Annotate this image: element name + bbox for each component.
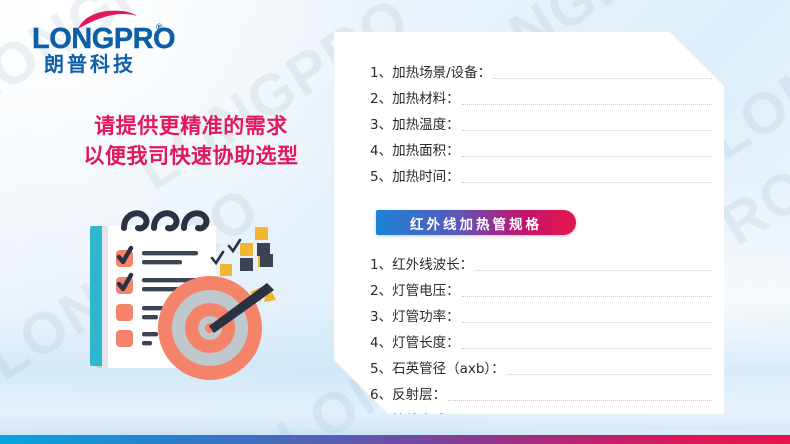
form-label: 3、灯管功率： — [370, 311, 460, 327]
form-row[interactable]: 4、加热面积： — [370, 136, 712, 160]
brand-logo: LONGPRO ® 朗普科技 — [18, 8, 178, 66]
slide-canvas: LONGPRO LONGPRO LONGPRO LONGPRO LONGPRO … — [0, 0, 790, 444]
headline-line-2: 以便我司快速协助选型 — [56, 142, 326, 172]
form-label: 1、加热场景/设备： — [370, 67, 491, 83]
checkbox-empty — [116, 304, 133, 321]
form-blank-line[interactable] — [475, 267, 712, 271]
form-row[interactable]: 2、加热材料： — [370, 84, 712, 108]
footer-shade — [0, 411, 790, 435]
form-label: 2、加热材料： — [370, 93, 460, 109]
form-label: 5、加热时间： — [370, 171, 460, 187]
footer-gradient-bar — [0, 435, 790, 444]
form-blank-line[interactable] — [507, 371, 712, 375]
form-blank-line[interactable] — [462, 345, 712, 349]
form-row[interactable]: 4、灯管长度： — [370, 328, 712, 352]
floating-squares-decoration — [212, 227, 273, 276]
headline-line-1: 请提供更精准的需求 — [56, 112, 326, 142]
checkbox-empty — [116, 330, 133, 347]
form-row[interactable]: 5、加热时间： — [370, 162, 712, 186]
form-label: 4、灯管长度： — [370, 337, 460, 353]
form-label: 3、加热温度： — [370, 119, 460, 135]
form-label: 5、石英管径（axb）： — [370, 363, 505, 379]
form-blank-line[interactable] — [462, 319, 712, 323]
logo-chinese-name: 朗普科技 — [44, 48, 136, 77]
form-blank-line[interactable] — [462, 127, 712, 131]
form-label: 2、灯管电压： — [370, 285, 460, 301]
requirement-form-card: 1、加热场景/设备： 2、加热材料： 3、加热温度： 4、加热面积： 5、加热时… — [334, 32, 724, 414]
section-banner-label: 红外线加热管规格 — [410, 213, 542, 233]
check-mark-icon — [229, 240, 240, 251]
form-blank-line[interactable] — [493, 75, 712, 79]
form-label: 4、加热面积： — [370, 145, 460, 161]
headline: 请提供更精准的需求 以便我司快速协助选型 — [56, 112, 326, 172]
form-blank-line[interactable] — [462, 153, 712, 157]
registered-mark-icon: ® — [156, 22, 163, 32]
form-row[interactable]: 1、加热场景/设备： — [370, 58, 712, 82]
section-banner: 红外线加热管规格 — [376, 210, 576, 235]
form-blank-line[interactable] — [462, 101, 712, 105]
form-label: 6、反射层： — [370, 389, 446, 405]
form-row[interactable]: 2、灯管电压： — [370, 276, 712, 300]
checklist-target-illustration — [62, 196, 338, 400]
form-row[interactable]: 5、石英管径（axb）： — [370, 354, 712, 378]
form-row[interactable]: 3、灯管功率： — [370, 302, 712, 326]
form-blank-line[interactable] — [462, 293, 712, 297]
form-row[interactable]: 1、红外线波长： — [370, 250, 712, 274]
form-row[interactable]: 6、反射层： — [370, 380, 712, 404]
form-blank-line[interactable] — [462, 179, 712, 183]
form-row[interactable]: 3、加热温度： — [370, 110, 712, 134]
form-label: 1、红外线波长： — [370, 259, 473, 275]
form-content: 1、加热场景/设备： 2、加热材料： 3、加热温度： 4、加热面积： 5、加热时… — [334, 32, 724, 414]
form-blank-line[interactable] — [448, 397, 712, 401]
